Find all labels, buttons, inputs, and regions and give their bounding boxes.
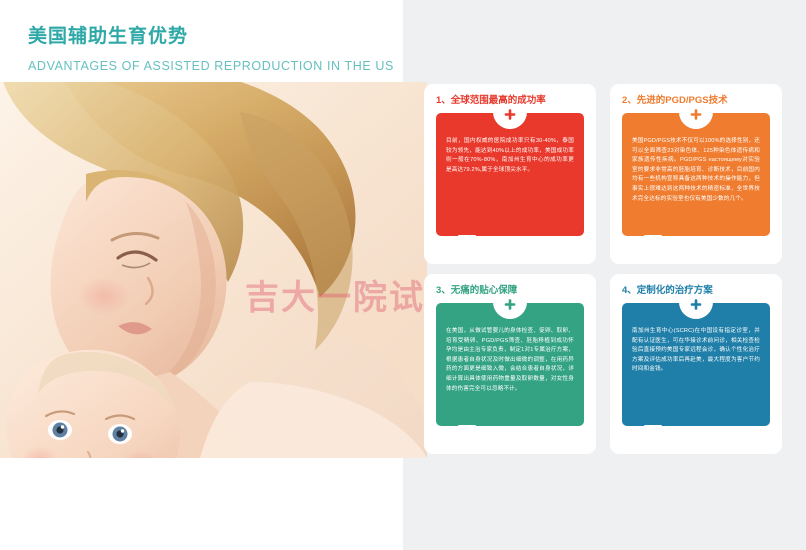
card-bubble: 南加州生育中心(SCRC)在中国设有指定诊室，并配有认证医生，可在华接诊术前问诊… (622, 303, 770, 426)
card-pgd-pgs[interactable]: 2、先进的PGD/PGS技术 美国PGD/PGS技术不仅可以100%的选择性别，… (610, 84, 782, 264)
card-bubble: 美国PGD/PGS技术不仅可以100%的选择性别，还可以全面筛查23对染色体、1… (622, 113, 770, 236)
card-bubble: 在美国，从做试管婴儿的身体检查、促卵、取卵、培育受精卵、PGD/PGS筛查、胚胎… (436, 303, 584, 426)
hero-photo (0, 82, 427, 458)
card-customized-plan[interactable]: 4、定制化的治疗方案 南加州生育中心(SCRC)在中国设有指定诊室，并配有认证医… (610, 274, 782, 454)
card-success-rate[interactable]: 1、全球范围最高的成功率 目前，国内权威的医院成功率只有30-40%，泰国较为领… (424, 84, 596, 264)
plus-icon[interactable] (686, 104, 707, 125)
card-tail (644, 425, 662, 442)
card-body: 南加州生育中心(SCRC)在中国设有指定诊室，并配有认证医生，可在华接诊术前问诊… (632, 327, 760, 375)
plus-icon[interactable] (500, 104, 521, 125)
card-painless-care[interactable]: 3、无痛的贴心保障 在美国，从做试管婴儿的身体检查、促卵、取卵、培育受精卵、PG… (424, 274, 596, 454)
card-bubble: 目前，国内权威的医院成功率只有30-40%，泰国较为领先，能达到40%以上的成功… (436, 113, 584, 236)
plus-icon[interactable] (500, 294, 521, 315)
card-tail (458, 425, 476, 442)
card-body: 在美国，从做试管婴儿的身体检查、促卵、取卵、培育受精卵、PGD/PGS筛查、胚胎… (446, 327, 574, 394)
page-title: 美国辅助生育优势 (28, 24, 388, 50)
card-tail (458, 235, 476, 252)
page-header: 美国辅助生育优势 ADVANTAGES OF ASSISTED REPRODUC… (28, 24, 388, 76)
advantages-card-grid: 1、全球范围最高的成功率 目前，国内权威的医院成功率只有30-40%，泰国较为领… (424, 84, 782, 462)
page-root: 美国辅助生育优势 ADVANTAGES OF ASSISTED REPRODUC… (0, 0, 806, 550)
plus-icon[interactable] (686, 294, 707, 315)
hero-photo-image (0, 82, 427, 458)
page-subtitle: ADVANTAGES OF ASSISTED REPRODUCTION IN T… (28, 56, 388, 76)
left-panel-bottom-fill (0, 458, 403, 550)
card-body: 美国PGD/PGS技术不仅可以100%的选择性别，还可以全面筛查23对染色体、1… (632, 137, 760, 204)
card-body: 目前，国内权威的医院成功率只有30-40%，泰国较为领先，能达到40%以上的成功… (446, 137, 574, 175)
card-tail (644, 235, 662, 252)
